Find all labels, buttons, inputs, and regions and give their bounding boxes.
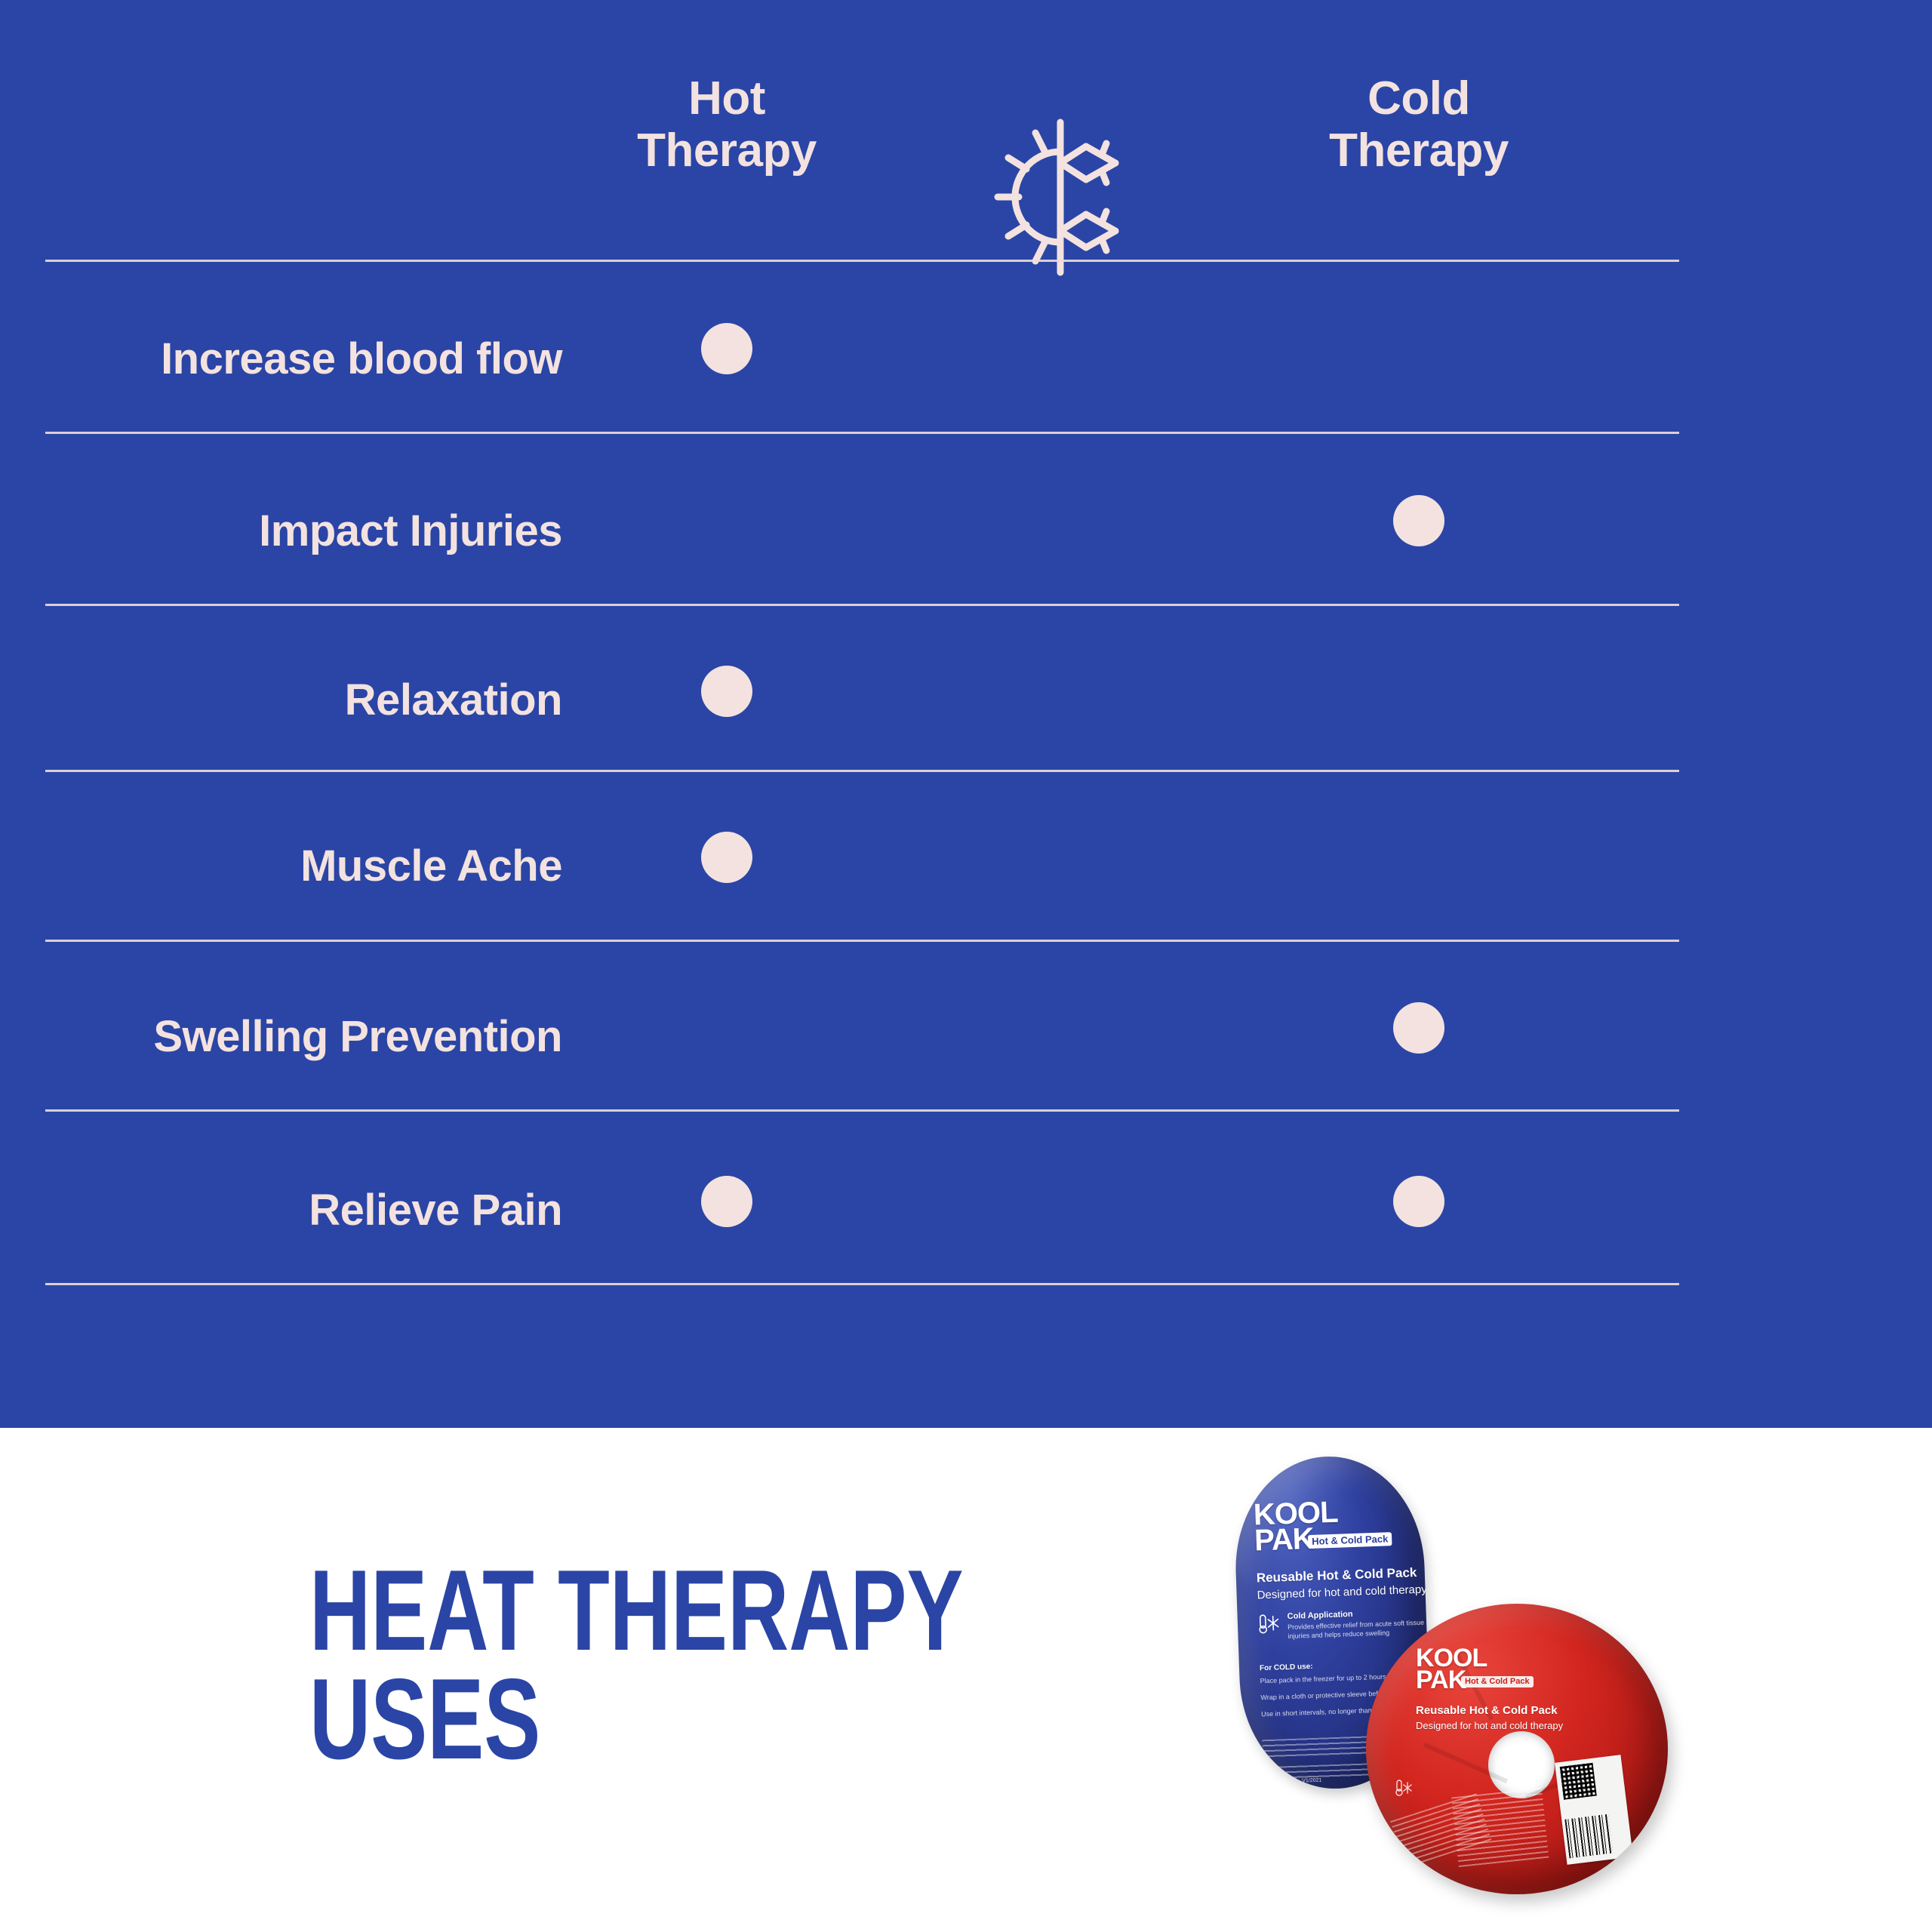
- row-label: Muscle Ache: [0, 841, 562, 891]
- sun-snowflake-icon: [981, 116, 1140, 278]
- row-label: Swelling Prevention: [0, 1011, 562, 1062]
- table-divider: [45, 770, 1679, 772]
- footer-title: HEAT THERAPY USES: [309, 1556, 924, 1774]
- pack-tagline-blue: Hot & Cold Pack: [1308, 1532, 1392, 1549]
- row-label: Increase blood flow: [0, 334, 562, 384]
- footer-title-line1: HEAT THERAPY: [309, 1556, 924, 1665]
- row-marker-cold: [1393, 495, 1444, 546]
- table-row: Impact Injuries: [0, 489, 1932, 598]
- table-divider: [45, 1283, 1679, 1285]
- row-marker-hot: [701, 323, 752, 374]
- row-marker-hot: [701, 666, 752, 717]
- column-header-hot-therapy-line1: Hot: [688, 72, 765, 125]
- product-red-hot-cold-pack: KOOL PAK Hot & Cold Pack Reusable Hot & …: [1366, 1604, 1668, 1894]
- barcode-icon: [1564, 1814, 1613, 1859]
- table-row: Swelling Prevention: [0, 995, 1932, 1104]
- row-marker-hot: [701, 832, 752, 883]
- barcode-label: [1555, 1755, 1633, 1865]
- product-photo: KOOL PAK Hot & Cold Pack Reusable Hot & …: [1223, 1457, 1675, 1917]
- pack-subhead-red: Designed for hot and cold therapy: [1416, 1720, 1563, 1731]
- table-divider: [45, 604, 1679, 606]
- pack-section-title-blue: Cold Application: [1287, 1610, 1352, 1621]
- pack-version-code: V1/2021: [1302, 1777, 1321, 1786]
- qr-code-icon: [1560, 1763, 1597, 1800]
- table-header: Hot Therapy: [0, 72, 1932, 238]
- column-header-hot-therapy: Hot Therapy: [531, 72, 923, 177]
- table-divider: [45, 260, 1679, 262]
- column-header-cold-therapy: Cold Therapy: [1223, 72, 1615, 177]
- table-row: Relaxation: [0, 658, 1932, 768]
- row-label: Relaxation: [0, 675, 562, 725]
- column-header-cold-therapy-line2: Therapy: [1329, 125, 1509, 177]
- thermometer-icon-red: [1395, 1779, 1414, 1801]
- table-row: Relieve Pain: [0, 1168, 1932, 1278]
- table-divider: [45, 1109, 1679, 1112]
- pack-instructions-block-red-2: [1451, 1788, 1549, 1869]
- table-row: Muscle Ache: [0, 824, 1932, 934]
- pack-headline-red: Reusable Hot & Cold Pack: [1416, 1704, 1558, 1717]
- thermometer-snowflake-icon: [1258, 1613, 1283, 1638]
- row-marker-cold: [1393, 1176, 1444, 1227]
- row-marker-hot: [701, 1176, 752, 1227]
- row-label: Relieve Pain: [0, 1185, 562, 1235]
- comparison-panel: Hot Therapy: [0, 0, 1932, 1428]
- row-label: Impact Injuries: [0, 506, 562, 556]
- pack-usage-title-blue: For COLD use:: [1260, 1663, 1313, 1672]
- table-row: Increase blood flow: [0, 317, 1932, 426]
- column-header-cold-therapy-line1: Cold: [1367, 72, 1470, 125]
- pack-tagline-red: Hot & Cold Pack: [1461, 1676, 1534, 1687]
- table-divider: [45, 940, 1679, 942]
- row-marker-cold: [1393, 1002, 1444, 1054]
- column-header-hot-therapy-line2: Therapy: [637, 125, 817, 177]
- table-divider: [45, 432, 1679, 434]
- footer-title-line2: USES: [309, 1665, 924, 1774]
